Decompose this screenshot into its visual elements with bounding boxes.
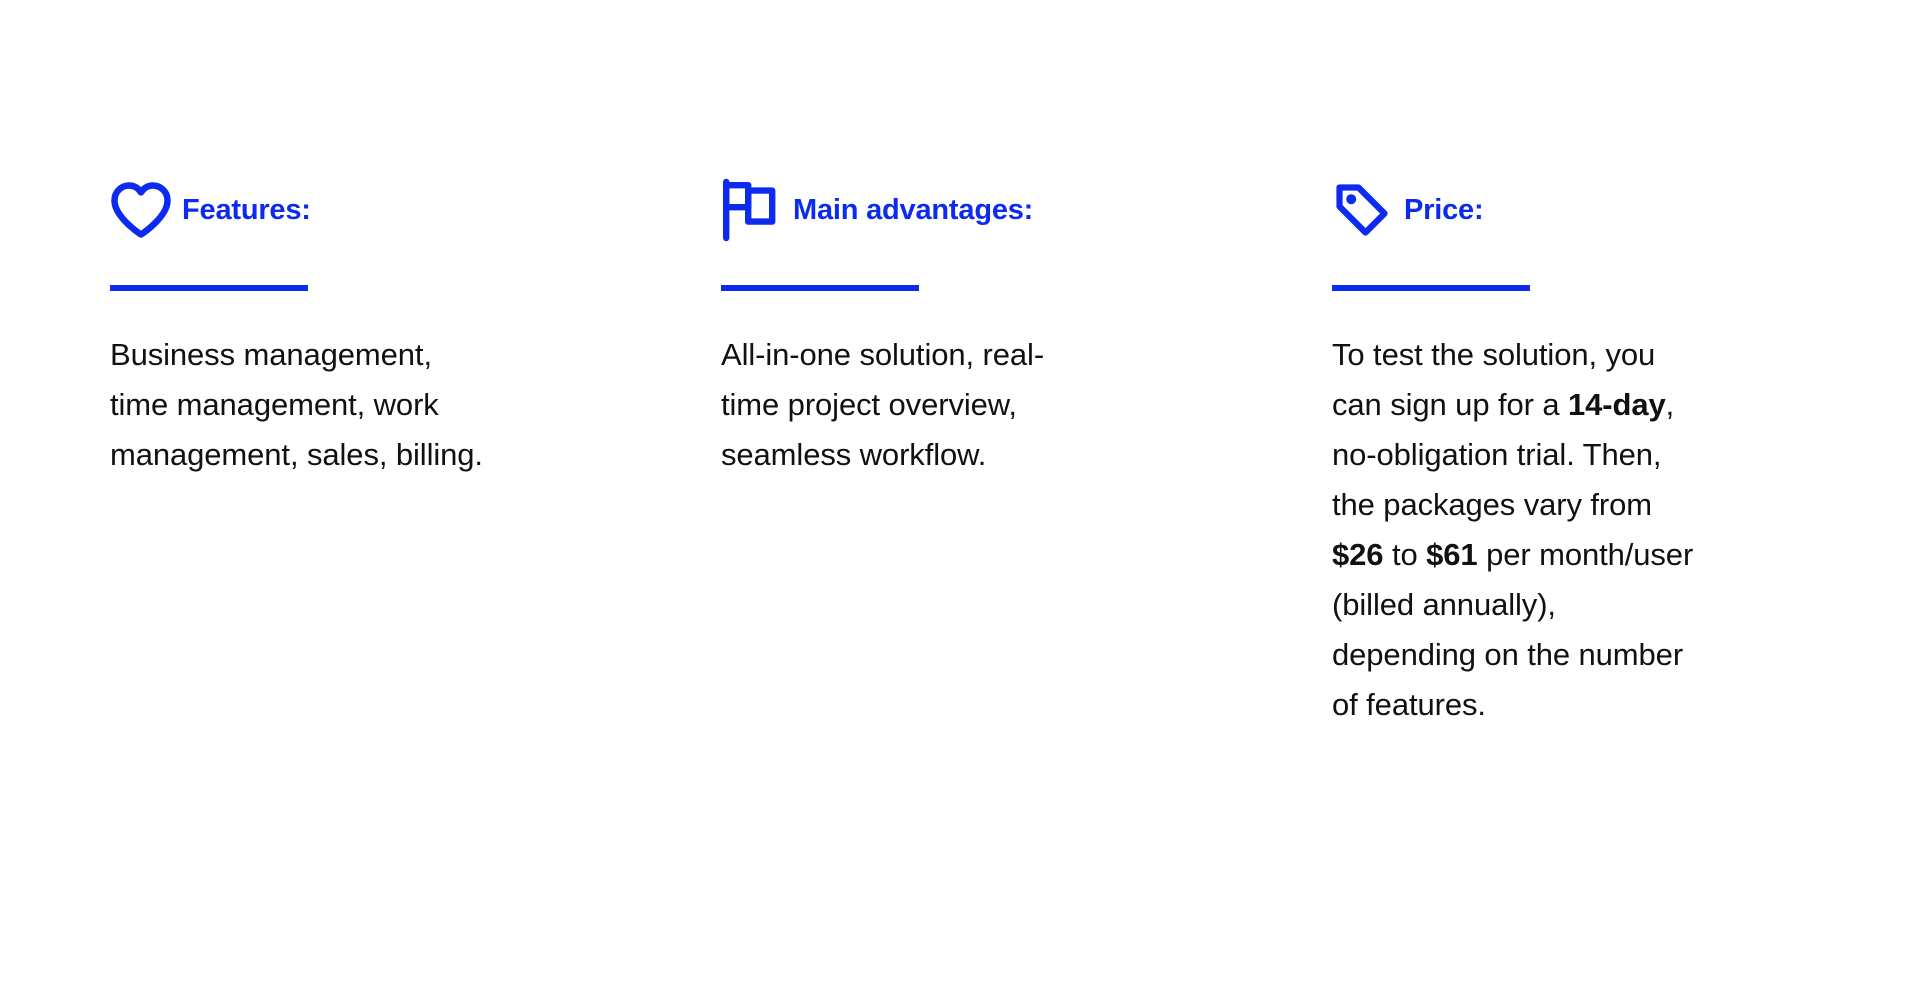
comparison-cards-board: Features: Business management, time mana… [0, 0, 1920, 987]
column-price-body: To test the solution, you can sign up fo… [1332, 330, 1704, 730]
column-features-title: Features: [182, 196, 311, 225]
column-advantages-body: All-in-one solution, real-time project o… [721, 330, 1051, 480]
column-advantages-title: Main advantages: [793, 196, 1033, 225]
column-price-title: Price: [1404, 196, 1483, 225]
column-features-body: Business management, time management, wo… [110, 330, 490, 480]
flag-icon [721, 175, 793, 245]
column-price-divider [1332, 285, 1530, 291]
column-price: Price: To test the solution, you can sig… [1332, 175, 1762, 730]
column-features-divider [110, 285, 308, 291]
price-tag-icon [1332, 175, 1404, 245]
column-advantages-divider [721, 285, 919, 291]
column-price-header: Price: [1332, 175, 1762, 245]
heart-icon [110, 175, 182, 245]
columns-container: Features: Business management, time mana… [0, 175, 1920, 730]
column-advantages: Main advantages: All-in-one solution, re… [721, 175, 1151, 480]
column-features-header: Features: [110, 175, 540, 245]
column-features: Features: Business management, time mana… [110, 175, 540, 480]
column-advantages-header: Main advantages: [721, 175, 1151, 245]
